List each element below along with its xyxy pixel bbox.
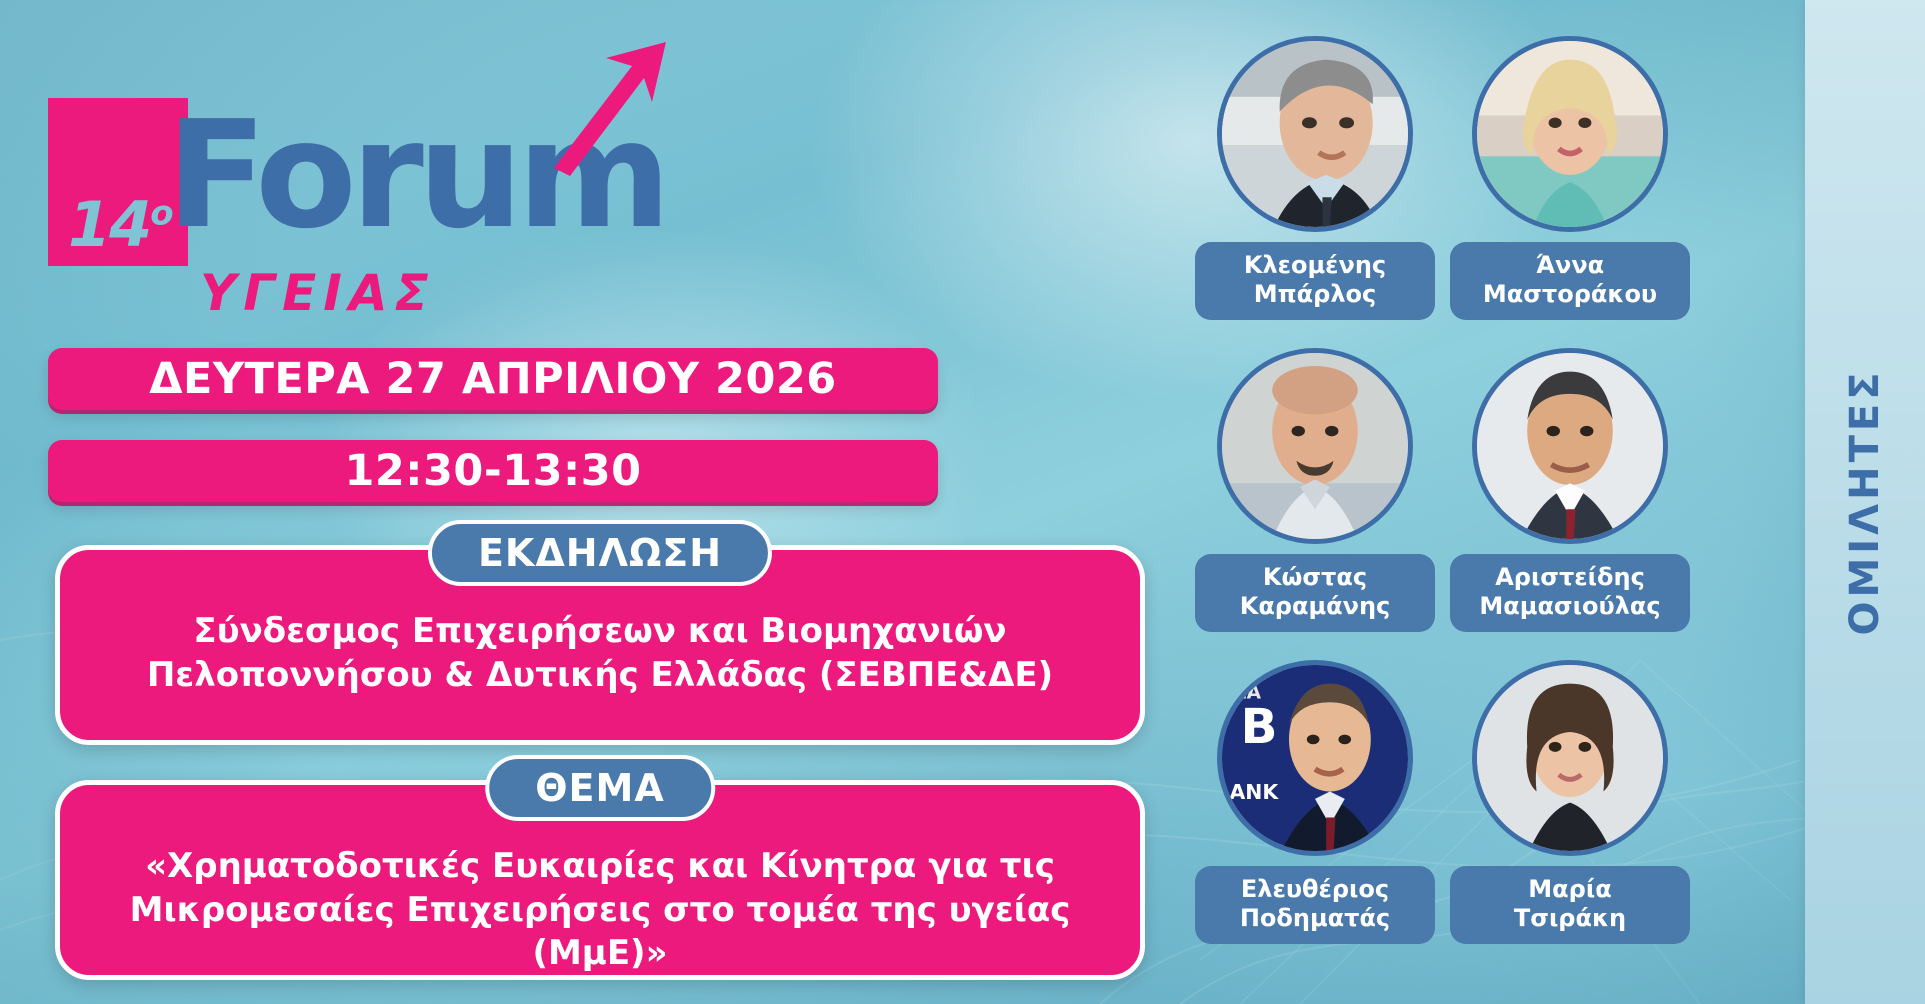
- speaker-last-name: Μαμασιούλας: [1456, 592, 1684, 621]
- speaker-card[interactable]: Κώστας Καραμάνης: [1195, 348, 1435, 648]
- logo-edition-digits: 14: [68, 188, 150, 261]
- speaker-first-name: Ελευθέριος: [1241, 875, 1389, 903]
- speaker-first-name: Κώστας: [1263, 563, 1367, 591]
- event-card: ΕΚΔΗΛΩΣΗ Σύνδεσμος Επιχειρήσεων και Βιομ…: [55, 545, 1145, 745]
- logo-edition-number: 14ο: [68, 188, 172, 261]
- speaker-name-label: Μαρία Τσιράκη: [1450, 866, 1690, 944]
- event-date-banner: ΔΕΥΤΕΡΑ 27 ΑΠΡΙΛΙΟΥ 2026: [48, 348, 938, 410]
- speaker-avatar: B ANK ZA: [1217, 660, 1413, 856]
- portrait-photo-1: [1222, 41, 1408, 227]
- event-pill-label: ΕΚΔΗΛΩΣΗ: [428, 520, 772, 586]
- speaker-avatar: [1472, 660, 1668, 856]
- theme-line-2: Μικρομεσαίες Επιχειρήσεις στο τομέα της …: [86, 889, 1114, 976]
- speaker-name-label: Αριστείδης Μαμασιούλας: [1450, 554, 1690, 632]
- svg-text:B: B: [1241, 699, 1278, 755]
- portrait-photo-5: B ANK ZA: [1222, 665, 1408, 851]
- speaker-avatar: [1217, 348, 1413, 544]
- growth-arrow-icon: [540, 36, 670, 176]
- portrait-photo-6: [1477, 665, 1663, 851]
- event-line-2: Πελοποννήσου & Δυτικής Ελλάδας (ΣΕΒΠΕ&ΔΕ…: [86, 654, 1114, 698]
- svg-text:ZA: ZA: [1233, 682, 1261, 703]
- event-organizer-text: Σύνδεσμος Επιχειρήσεων και Βιομηχανιών Π…: [60, 610, 1140, 697]
- svg-text:ANK: ANK: [1229, 780, 1279, 804]
- speaker-first-name: Μαρία: [1528, 875, 1611, 903]
- theme-line-1: «Χρηματοδοτικές Ευκαιρίες και Κίνητρα γι…: [145, 846, 1055, 886]
- speaker-first-name: Κλεομένης: [1244, 251, 1386, 279]
- theme-card: ΘΕΜΑ «Χρηματοδοτικές Ευκαιρίες και Κίνητ…: [55, 780, 1145, 980]
- speaker-last-name: Καραμάνης: [1201, 592, 1429, 621]
- speaker-name-label: Κλεομένης Μπάρλος: [1195, 242, 1435, 320]
- speaker-card[interactable]: Άννα Μαστοράκου: [1450, 36, 1690, 336]
- theme-pill-label: ΘΕΜΑ: [485, 755, 715, 821]
- speaker-last-name: Τσιράκη: [1456, 904, 1684, 933]
- event-line-1: Σύνδεσμος Επιχειρήσεων και Βιομηχανιών: [193, 611, 1006, 651]
- theme-topic-text: «Χρηματοδοτικές Ευκαιρίες και Κίνητρα γι…: [60, 845, 1140, 976]
- speakers-grid: Κλεομένης Μπάρλος Άννα Μαστοράκου: [1195, 36, 1755, 976]
- portrait-photo-3: [1222, 353, 1408, 539]
- speaker-avatar: [1472, 348, 1668, 544]
- speaker-avatar: [1472, 36, 1668, 232]
- speaker-avatar: [1217, 36, 1413, 232]
- speaker-first-name: Αριστείδης: [1495, 563, 1645, 591]
- speaker-last-name: Ποδηματάς: [1201, 904, 1429, 933]
- portrait-photo-2: [1477, 41, 1663, 227]
- event-time-banner: 12:30-13:30: [48, 440, 938, 502]
- forum-logo: 14ο Forum ΥΓΕΙΑΣ: [48, 78, 668, 288]
- speaker-last-name: Μαστοράκου: [1456, 280, 1684, 309]
- speaker-card[interactable]: Μαρία Τσιράκη: [1450, 660, 1690, 960]
- speaker-name-label: Άννα Μαστοράκου: [1450, 242, 1690, 320]
- logo-subtitle: ΥΓΕΙΑΣ: [200, 264, 436, 322]
- speaker-name-label: Ελευθέριος Ποδηματάς: [1195, 866, 1435, 944]
- portrait-photo-4: [1477, 353, 1663, 539]
- speaker-card[interactable]: Κλεομένης Μπάρλος: [1195, 36, 1435, 336]
- speaker-card[interactable]: Αριστείδης Μαμασιούλας: [1450, 348, 1690, 648]
- speakers-panel-label: ΟΜΙΛΗΤΕΣ: [1842, 368, 1888, 635]
- speaker-card[interactable]: B ANK ZA Ελευθέριος Ποδηματάς: [1195, 660, 1435, 960]
- speaker-name-label: Κώστας Καραμάνης: [1195, 554, 1435, 632]
- speakers-side-panel: ΟΜΙΛΗΤΕΣ: [1805, 0, 1925, 1004]
- speaker-last-name: Μπάρλος: [1201, 280, 1429, 309]
- speaker-first-name: Άννα: [1536, 251, 1604, 279]
